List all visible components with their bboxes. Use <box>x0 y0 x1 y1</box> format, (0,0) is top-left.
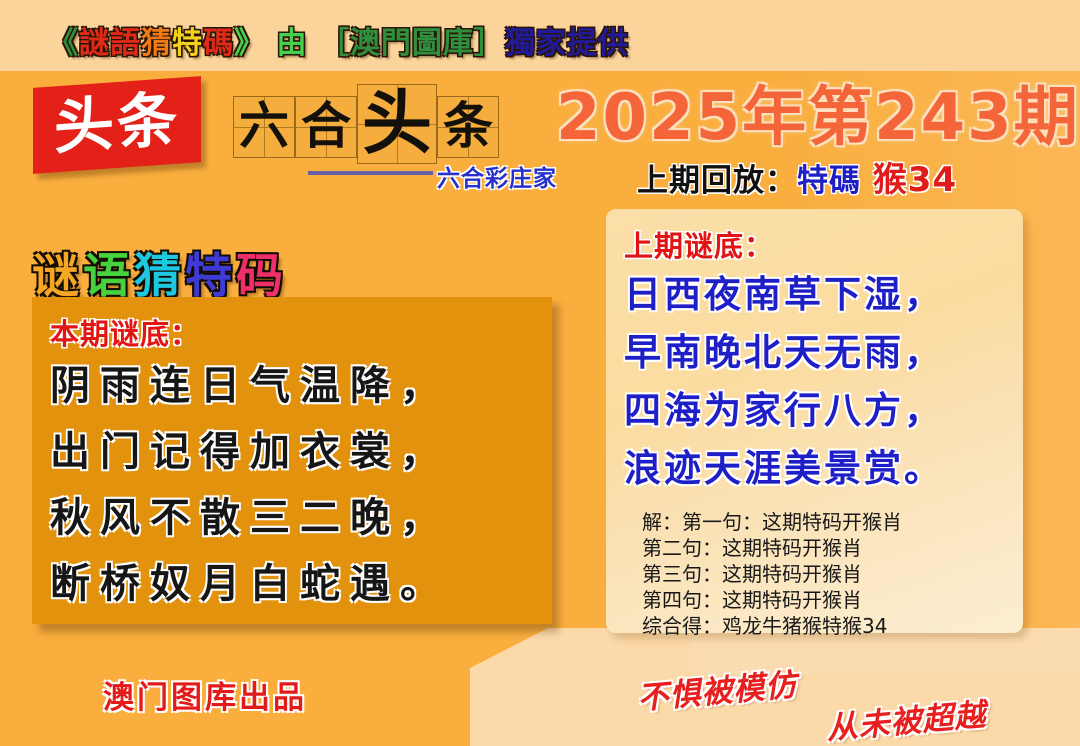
previous-answer-line-4: 浪迹天涯美景赏。 <box>624 439 1009 497</box>
rainbow-char-4: 特 <box>185 249 236 304</box>
explanation-line-3: 第三句：这期特码开猴肖 <box>642 561 1009 587</box>
previous-answer-line-3: 四海为家行八方， <box>624 381 1009 439</box>
title-part-yu: 語 <box>110 26 141 61</box>
page-title: 《謎語猜特碼》 由 ［澳門圖庫］獨家提供 <box>48 18 629 62</box>
title-part-close-bracket: 》 <box>234 26 265 61</box>
logo-subtitle: 六合彩庄家 <box>437 159 557 193</box>
title-part-exclusive: 獨家提供 <box>505 26 629 61</box>
logo-grid-char-2: 合 <box>301 96 351 155</box>
logo-badge-label: 头条 <box>33 76 201 174</box>
poster-root: 《謎語猜特碼》 由 ［澳門圖庫］獨家提供 头条 六 合 头 条 六合彩庄家 20… <box>0 0 1080 746</box>
logo-grid-cell-1: 六 <box>233 96 295 158</box>
current-riddle-line-2: 出门记得加衣裳， <box>50 419 534 485</box>
rainbow-char-2: 语 <box>83 249 134 304</box>
footer-brand: 澳门图库出品 <box>103 672 307 717</box>
logo-grid-char-4: 条 <box>443 96 493 155</box>
logo-badge: 头条 <box>33 76 201 174</box>
rainbow-char-1: 谜 <box>32 249 83 304</box>
previous-answer-line-2: 早南晚北天无雨， <box>624 323 1009 381</box>
rainbow-char-5: 码 <box>236 249 287 304</box>
logo-grid-cell-4: 条 <box>437 96 499 158</box>
explanation-line-4: 第四句：这期特码开猴肖 <box>642 587 1009 613</box>
current-riddle-line-1: 阴雨连日气温降， <box>50 353 534 419</box>
logo-grid-char-3: 头 <box>362 81 432 164</box>
current-riddle-heading: 本期谜底： <box>50 311 534 353</box>
current-riddle-line-4: 断桥奴月白蛇遇。 <box>50 551 534 617</box>
current-riddle-line-3: 秋风不散三二晚， <box>50 485 534 551</box>
logo-grid-cell-3: 头 <box>357 84 437 164</box>
logo-grid-cell-2: 合 <box>295 96 357 158</box>
logo-grid-char-1: 六 <box>239 96 289 155</box>
previous-answer-explanations: 解：第一句：这期特码开猴肖 第二句：这期特码开猴肖 第三句：这期特码开猴肖 第四… <box>624 509 1009 639</box>
explanation-line-5: 综合得：鸡龙牛猪猴特猴34 <box>642 613 1009 639</box>
explanation-line-2: 第二句：这期特码开猴肖 <box>642 535 1009 561</box>
issue-label: 2025年第243期 <box>556 66 1080 158</box>
title-part-mi: 謎 <box>79 26 110 61</box>
title-part-open-bracket: 《 <box>48 26 79 61</box>
logo-grid-word: 六 合 头 条 <box>233 84 499 164</box>
logo-divider-line <box>308 171 433 175</box>
title-part-cai: 猜 <box>141 26 172 61</box>
riddle-section-title: 谜语猜特码 <box>32 237 287 306</box>
title-part-you: 由 <box>265 26 319 61</box>
last-draw-recall: 上期回放：特碼 猴34 <box>637 152 957 201</box>
explanation-line-1: 解：第一句：这期特码开猴肖 <box>642 509 1009 535</box>
title-part-te: 特 <box>172 26 203 61</box>
previous-answer-panel: 上期谜底： 日西夜南草下湿， 早南晚北天无雨， 四海为家行八方， 浪迹天涯美景赏… <box>606 209 1023 633</box>
recall-result: 猴34 <box>873 160 957 200</box>
previous-answer-heading: 上期谜底： <box>624 223 1009 265</box>
title-part-source: ［澳門圖庫］ <box>319 26 505 61</box>
recall-prefix: 上期回放： <box>637 163 797 199</box>
recall-type-label: 特碼 <box>797 163 861 199</box>
current-riddle-panel: 本期谜底： 阴雨连日气温降， 出门记得加衣裳， 秋风不散三二晚， 断桥奴月白蛇遇… <box>32 297 552 624</box>
rainbow-char-3: 猜 <box>134 249 185 304</box>
title-part-ma: 碼 <box>203 26 234 61</box>
previous-answer-line-1: 日西夜南草下湿， <box>624 265 1009 323</box>
